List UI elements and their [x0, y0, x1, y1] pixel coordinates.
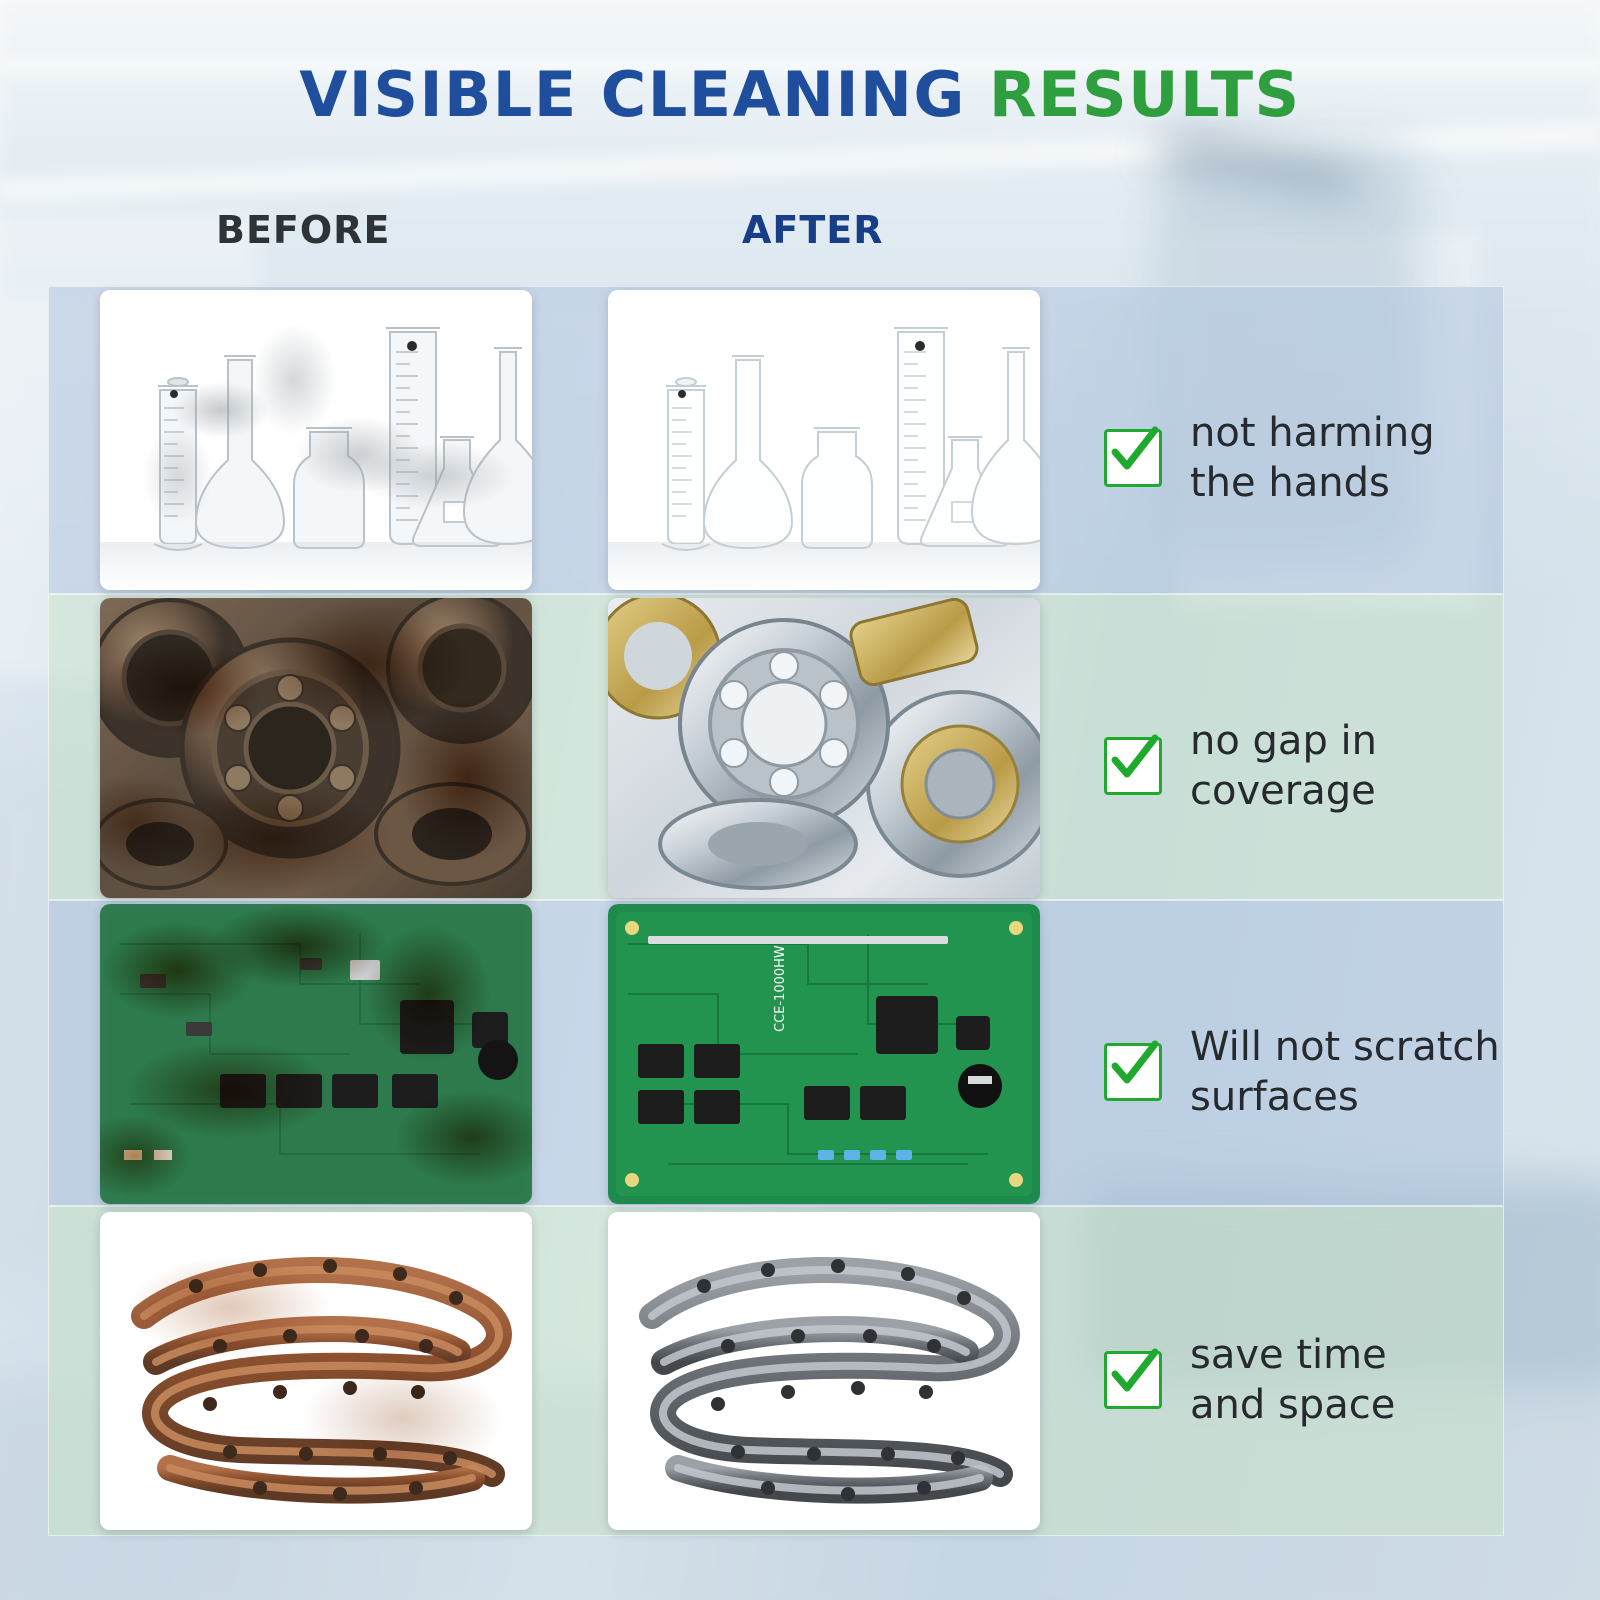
glassware-dirty-illustration	[100, 290, 532, 590]
feature-row-3: Will not scratch surfaces	[1104, 1022, 1500, 1122]
check-icon-3	[1104, 1043, 1162, 1101]
bearings-rusty-illustration	[100, 598, 532, 898]
check-icon-4	[1104, 1351, 1162, 1409]
feature-label-1: not harming the hands	[1190, 408, 1435, 508]
feature-row-4: save time and space	[1104, 1330, 1395, 1430]
page-title-part1: VISIBLE CLEANING	[299, 58, 989, 131]
column-header-after: AFTER	[742, 208, 884, 252]
bearings-rust-overlay	[100, 598, 532, 898]
pcb-rusty-illustration	[100, 904, 532, 1204]
feature-label-4: save time and space	[1190, 1330, 1395, 1430]
feature-row-1: not harming the hands	[1104, 408, 1435, 508]
checkmark-glyph-3	[1103, 1036, 1163, 1096]
photo-card-after-pcb: CCE-1000HW	[608, 904, 1040, 1204]
glassware-reflection-before	[100, 542, 532, 590]
pcb-clean-svg: CCE-1000HW	[608, 904, 1040, 1204]
photo-card-after-bearings	[608, 598, 1040, 898]
chain-clean-illustration	[608, 1212, 1040, 1530]
feature-label-3: Will not scratch surfaces	[1190, 1022, 1500, 1122]
photo-card-after-chain	[608, 1212, 1040, 1530]
page-title: VISIBLE CLEANING RESULTS	[0, 58, 1600, 131]
photo-card-before-bearings	[100, 598, 532, 898]
photo-card-after-glassware	[608, 290, 1040, 590]
chain-rust-overlay	[100, 1212, 532, 1530]
page-title-part2: RESULTS	[989, 58, 1301, 131]
photo-card-before-pcb	[100, 904, 532, 1204]
feature-row-2: no gap in coverage	[1104, 716, 1377, 816]
checkmark-glyph-1	[1103, 422, 1163, 482]
checkmark-glyph-4	[1103, 1344, 1163, 1404]
bearings-clean-svg	[608, 598, 1040, 898]
pcb-board-label: CCE-1000HW	[773, 945, 788, 1032]
column-header-before: BEFORE	[216, 208, 390, 252]
check-icon-2	[1104, 737, 1162, 795]
infographic-page: VISIBLE CLEANING RESULTS BEFORE AFTER	[0, 0, 1600, 1600]
pcb-rust-overlay	[100, 904, 532, 1204]
chain-rusty-illustration	[100, 1212, 532, 1530]
photo-card-before-glassware	[100, 290, 532, 590]
chain-clean-svg	[608, 1212, 1040, 1530]
glassware-reflection-after	[608, 542, 1040, 590]
checkmark-glyph-2	[1103, 730, 1163, 790]
photo-card-before-chain	[100, 1212, 532, 1530]
glassware-clean-illustration	[608, 290, 1040, 590]
check-icon-1	[1104, 429, 1162, 487]
bearings-clean-illustration	[608, 598, 1040, 898]
pcb-clean-illustration: CCE-1000HW	[608, 904, 1040, 1204]
feature-label-2: no gap in coverage	[1190, 716, 1377, 816]
